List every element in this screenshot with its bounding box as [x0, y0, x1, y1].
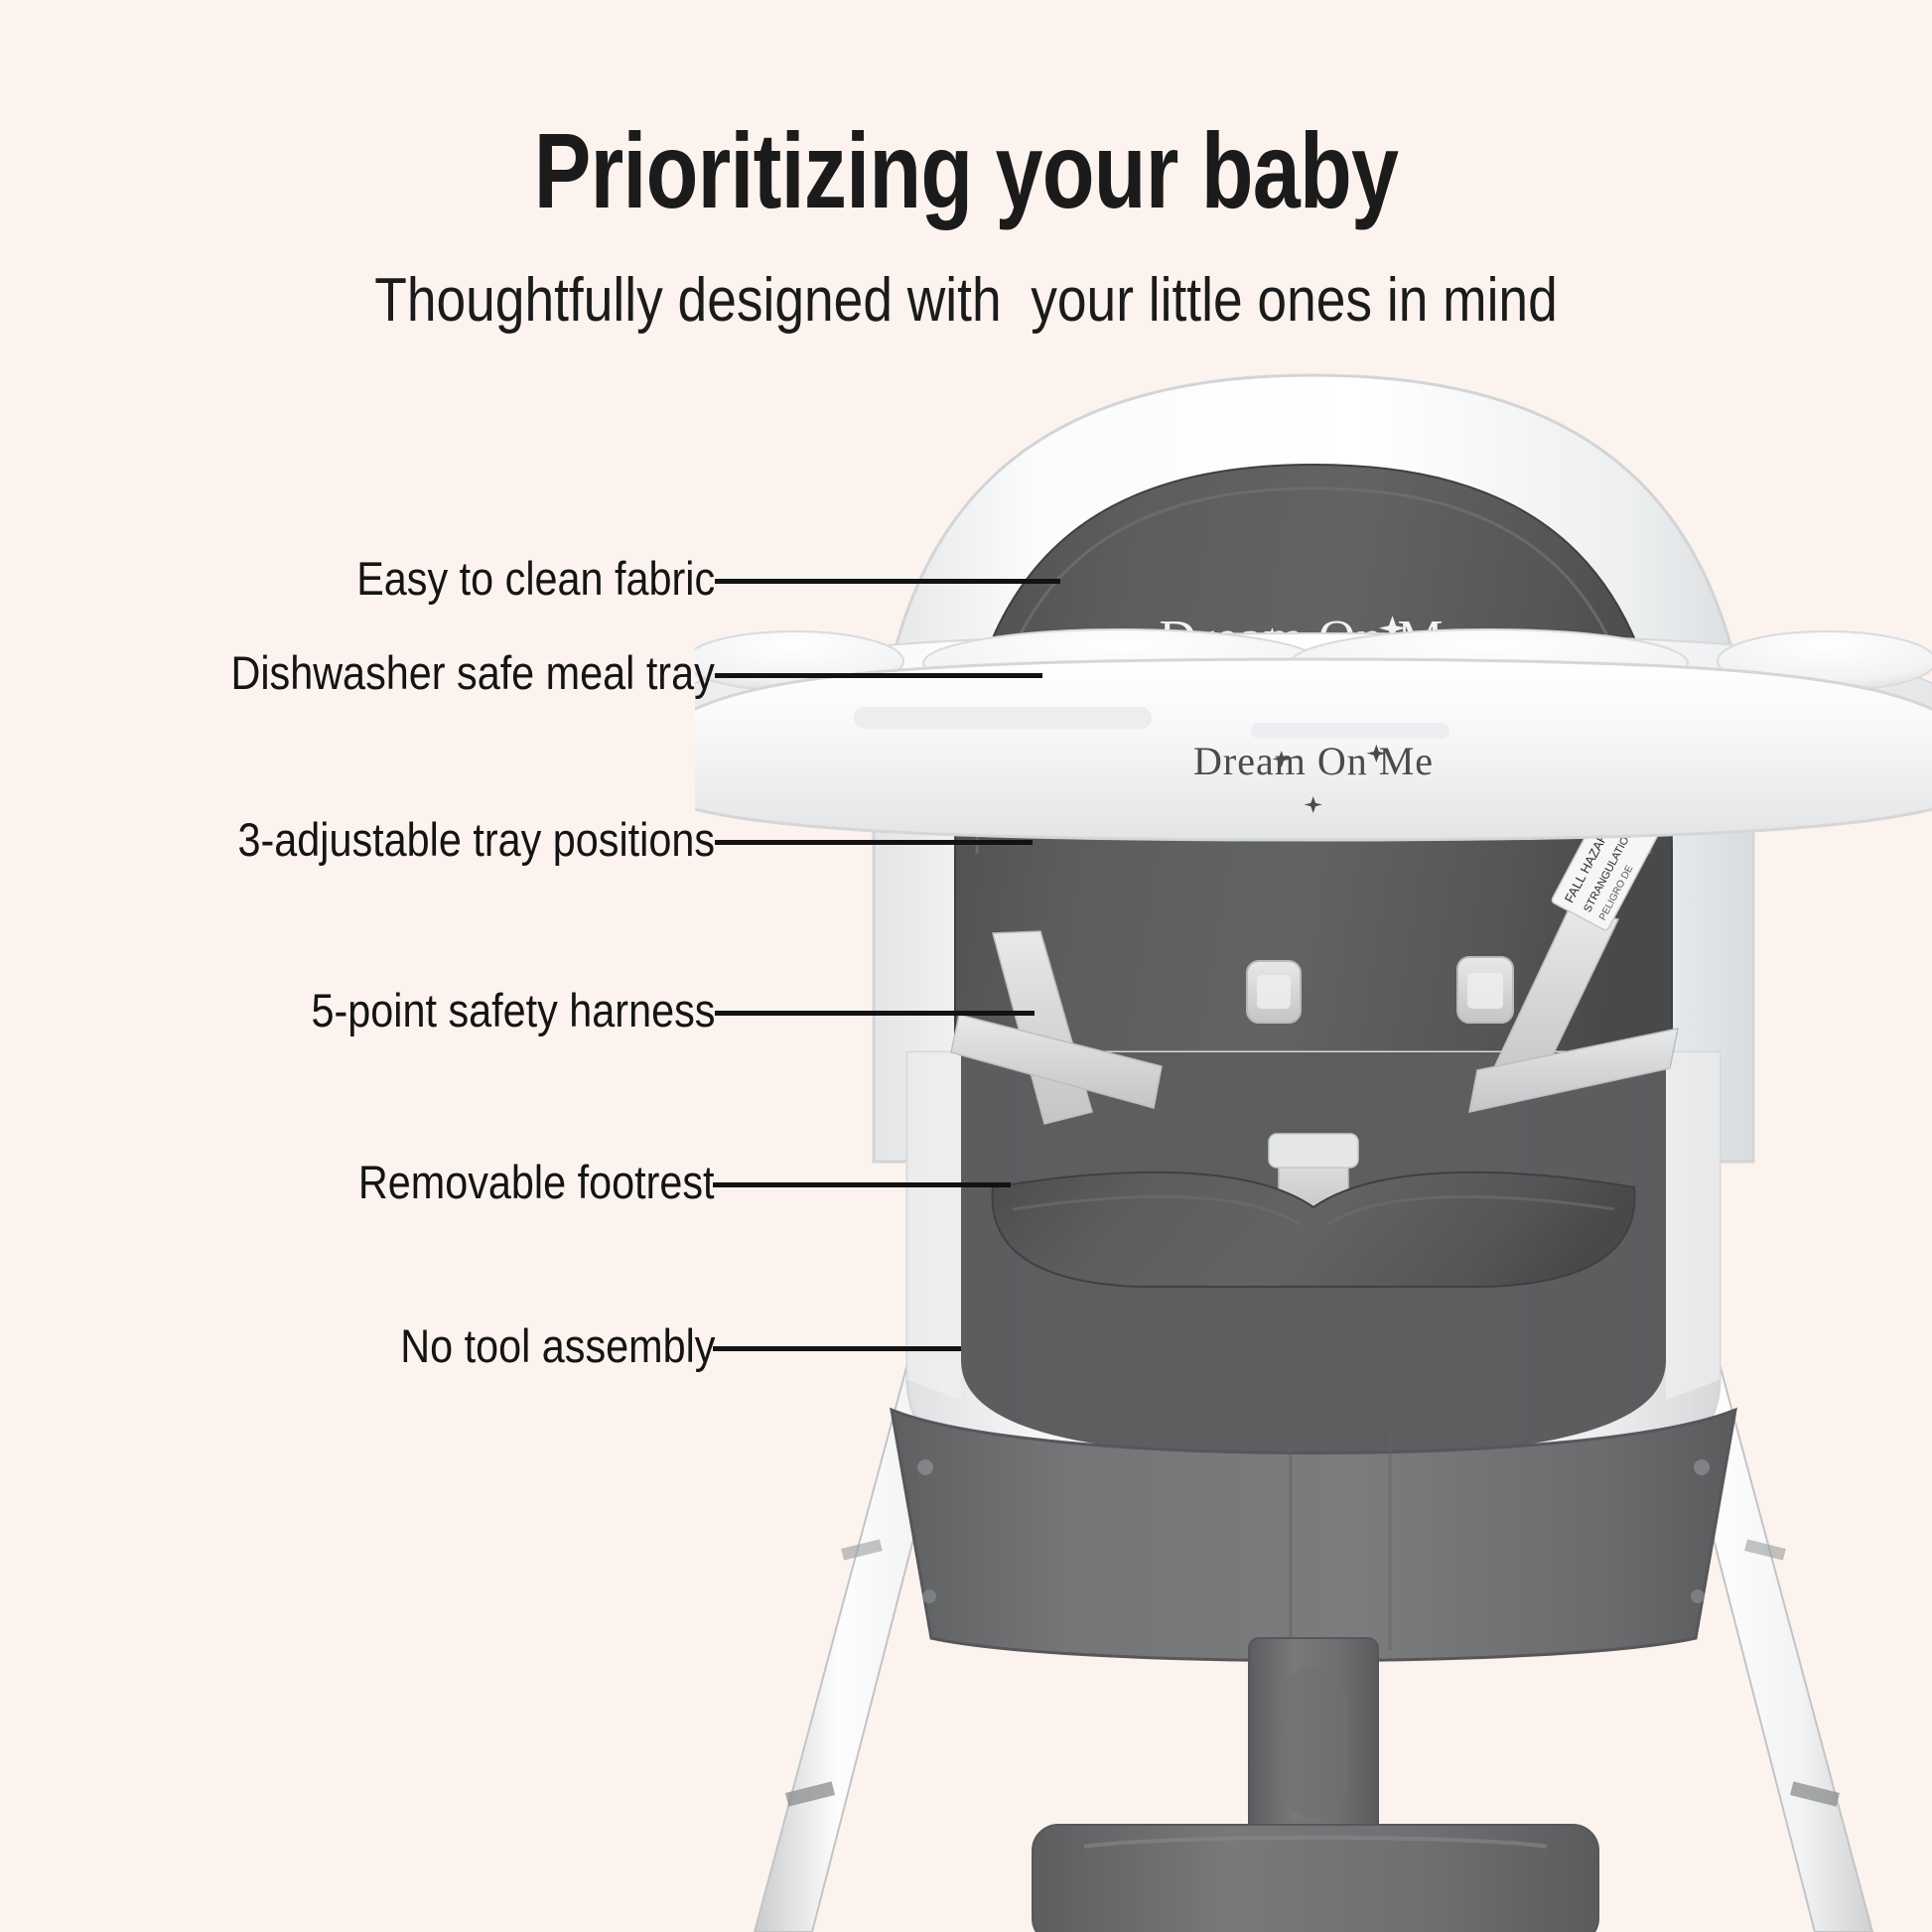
page-title: Prioritizing your baby [194, 117, 1739, 224]
footrest [1033, 1638, 1598, 1932]
feature-connector-line-2 [715, 673, 1042, 678]
feature-label-no-tool-assembly: No tool assembly [400, 1322, 715, 1369]
feature-label-5-point-safety-harness: 5-point safety harness [311, 987, 715, 1034]
product-image: Dream On Me [695, 357, 1932, 1932]
feature-label-easy-to-clean-fabric: Easy to clean fabric [356, 555, 715, 602]
feature-connector-line-3 [715, 840, 1033, 845]
feature-connector-line-5 [713, 1182, 1011, 1187]
tray-logo-text: Dream On Me [1193, 739, 1434, 783]
feature-connector-line-4 [715, 1011, 1035, 1016]
infographic-canvas: Prioritizing your baby Thoughtfully desi… [0, 0, 1932, 1932]
feature-label-3-adjustable-tray-positions: 3-adjustable tray positions [237, 816, 715, 863]
page-subtitle: Thoughtfully designed with your little o… [135, 270, 1797, 332]
feature-connector-line-1 [715, 579, 1060, 584]
feature-connector-line-6 [713, 1346, 961, 1351]
feature-label-dishwasher-safe-meal-tray: Dishwasher safe meal tray [231, 649, 715, 696]
feature-label-removable-footrest: Removable footrest [358, 1159, 715, 1205]
